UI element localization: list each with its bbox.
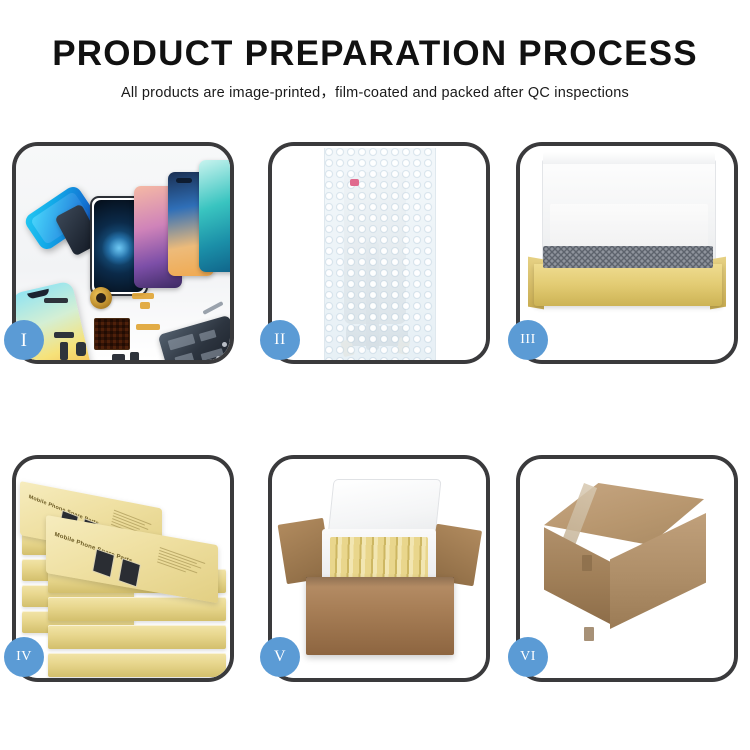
step-badge-6: VI [508, 637, 548, 677]
power-flex-part [132, 293, 154, 299]
antenna-strip-part [44, 298, 68, 303]
vibrator-part [130, 352, 139, 360]
button-flex-part [140, 302, 150, 309]
step-badge-2: II [260, 320, 300, 360]
phone-notch [176, 178, 192, 183]
step-badge-4: IV [4, 637, 44, 677]
volume-flex-part [136, 324, 160, 330]
step-panel-1: I [12, 142, 234, 364]
step-6-frame [516, 455, 738, 682]
box-spec-lines-front [157, 547, 207, 581]
carton-body [306, 577, 454, 655]
motherboard-part [158, 315, 230, 360]
box-screen-art-d [118, 558, 141, 587]
screw-part-a [222, 342, 227, 347]
carton-seam-lower [584, 627, 594, 641]
foam-box-photo [520, 146, 734, 360]
steps-grid: I II [0, 0, 750, 750]
flex-cable-part-a [54, 332, 74, 338]
product-parts-photo [16, 146, 230, 360]
step-panel-6: VI [516, 455, 738, 682]
speaker-part [112, 354, 125, 360]
box-tray-yellow [534, 264, 722, 306]
sealed-carton-photo [520, 459, 734, 678]
step-panel-4: Mobile Phone Spare Parts [12, 455, 234, 682]
phone-teal [199, 160, 230, 272]
screw-part-b [228, 354, 230, 359]
bubble-wrap-photo [272, 146, 486, 360]
flex-cable-part-b [60, 342, 68, 360]
step-5-frame [268, 455, 490, 682]
connector-grid-part [94, 318, 130, 350]
step-panel-2: II [268, 142, 490, 364]
step-4-frame: Mobile Phone Spare Parts [12, 455, 234, 682]
step-3-frame [516, 142, 738, 364]
carton-packing-photo [272, 459, 486, 678]
pink-seal-sticker [350, 179, 359, 186]
step-badge-3: III [508, 320, 548, 360]
step-panel-3: III [516, 142, 738, 364]
stacked-boxes-photo: Mobile Phone Spare Parts [16, 459, 230, 678]
screw-part-c [216, 356, 221, 360]
camera-module-part [76, 342, 86, 356]
step-1-frame [12, 142, 234, 364]
step-badge-1: I [4, 320, 44, 360]
wallpaper-glow [102, 231, 136, 265]
product-preparation-infographic: PRODUCT PREPARATION PROCESS All products… [0, 0, 750, 750]
box-screen-art-c [92, 548, 115, 577]
carton-seam-upper [582, 555, 592, 571]
step-2-frame [268, 142, 490, 364]
tweezers-tool [202, 301, 223, 315]
step-panel-5: V [268, 455, 490, 682]
step-badge-5: V [260, 637, 300, 677]
bubble-wrap-bag [324, 148, 436, 360]
speaker-coil-part [90, 287, 112, 309]
